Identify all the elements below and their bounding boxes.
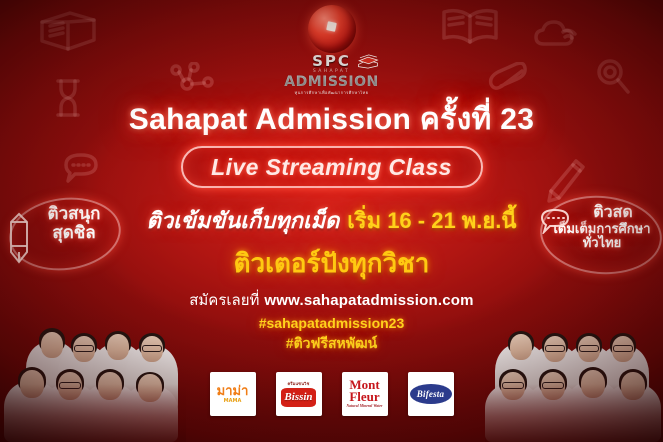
badge-left-line-1: ติวสนุก [32, 204, 116, 223]
logo-books-icon [357, 54, 379, 69]
sponsor-bissin-text: Bissin [281, 388, 315, 407]
paperclip-icon [486, 62, 528, 92]
badge-left-line-2: สุดชิล [32, 223, 116, 242]
sponsor-mama-sub: MAMA [217, 399, 249, 404]
sponsor-bissin-top: ครีมแซนวิช [281, 382, 315, 386]
logo-subtitle: ทุนการศึกษาเพื่อพัฒนาการศึกษาไทย [278, 90, 386, 95]
speech-bubble-icon [62, 152, 100, 184]
badge-left: ติวสนุก สุดชิล [18, 204, 116, 242]
sponsor-mont-sub: Natural Mineral Water [346, 405, 382, 408]
molecule-icon [168, 62, 214, 100]
website-row: สมัครเลยที่www.sahapatadmission.com [0, 288, 663, 312]
logo-orb-icon [308, 5, 356, 53]
hashtag-line-2: #ติวฟรีสหพัฒน์ [0, 333, 663, 353]
promo-banner: SPC SAHAPAT ADMISSION ทุนการศึกษาเพื่อพั… [0, 0, 663, 442]
sponsor-bifesta-text: Bifesta [410, 384, 452, 404]
hashtag-block: #sahapatadmission23 #ติวฟรีสหพัฒน์ [0, 313, 663, 354]
speech-bubble-icon [540, 208, 570, 234]
cloud-wifi-icon [532, 18, 580, 52]
logo-admission-text: ADMISSION [278, 75, 386, 90]
main-title: Sahapat Admission ครั้งที่ 23 [0, 96, 663, 143]
sponsor-logo-mama: มาม่า MAMA [210, 372, 256, 416]
headline-white-text: ติวเข้มขันเก็บทุกเม็ด [147, 208, 340, 233]
sponsor-logo-bifesta: Bifesta [408, 372, 454, 416]
pencil-icon [545, 158, 587, 204]
website-label: สมัครเลยที่ [189, 292, 259, 309]
sponsor-mama-text: มาม่า [217, 384, 249, 399]
pencil-icon [6, 212, 32, 264]
spc-admission-logo: SPC SAHAPAT ADMISSION ทุนการศึกษาเพื่อพั… [278, 5, 386, 97]
sponsor-logo-bissin: ครีมแซนวิช Bissin [276, 372, 322, 416]
badge-right-line-1: ติวสด [570, 204, 656, 222]
open-book-icon [440, 6, 500, 48]
sponsor-logo-row: มาม่า MAMA ครีมแซนวิช Bissin Mont Fleur … [210, 372, 454, 416]
badge-right: ติวสด เต็มเต็มการศึกษา ทั่วไทย [548, 204, 656, 251]
sponsor-mont-line-2: Fleur [346, 391, 382, 403]
closed-book-icon [36, 10, 100, 52]
magnifier-icon [595, 58, 631, 96]
badge-right-line-3: ทั่วไทย [548, 236, 656, 251]
live-streaming-label: Live Streaming Class [211, 154, 452, 181]
headline-date-text: เริ่ม 16 - 21 พ.ย.นี้ [347, 208, 516, 233]
sponsor-logo-mont-fleur: Mont Fleur Natural Mineral Water [342, 372, 388, 416]
hashtag-line-1: #sahapatadmission23 [0, 313, 663, 333]
live-streaming-pill: Live Streaming Class [181, 146, 483, 188]
website-url[interactable]: www.sahapatadmission.com [264, 292, 473, 309]
